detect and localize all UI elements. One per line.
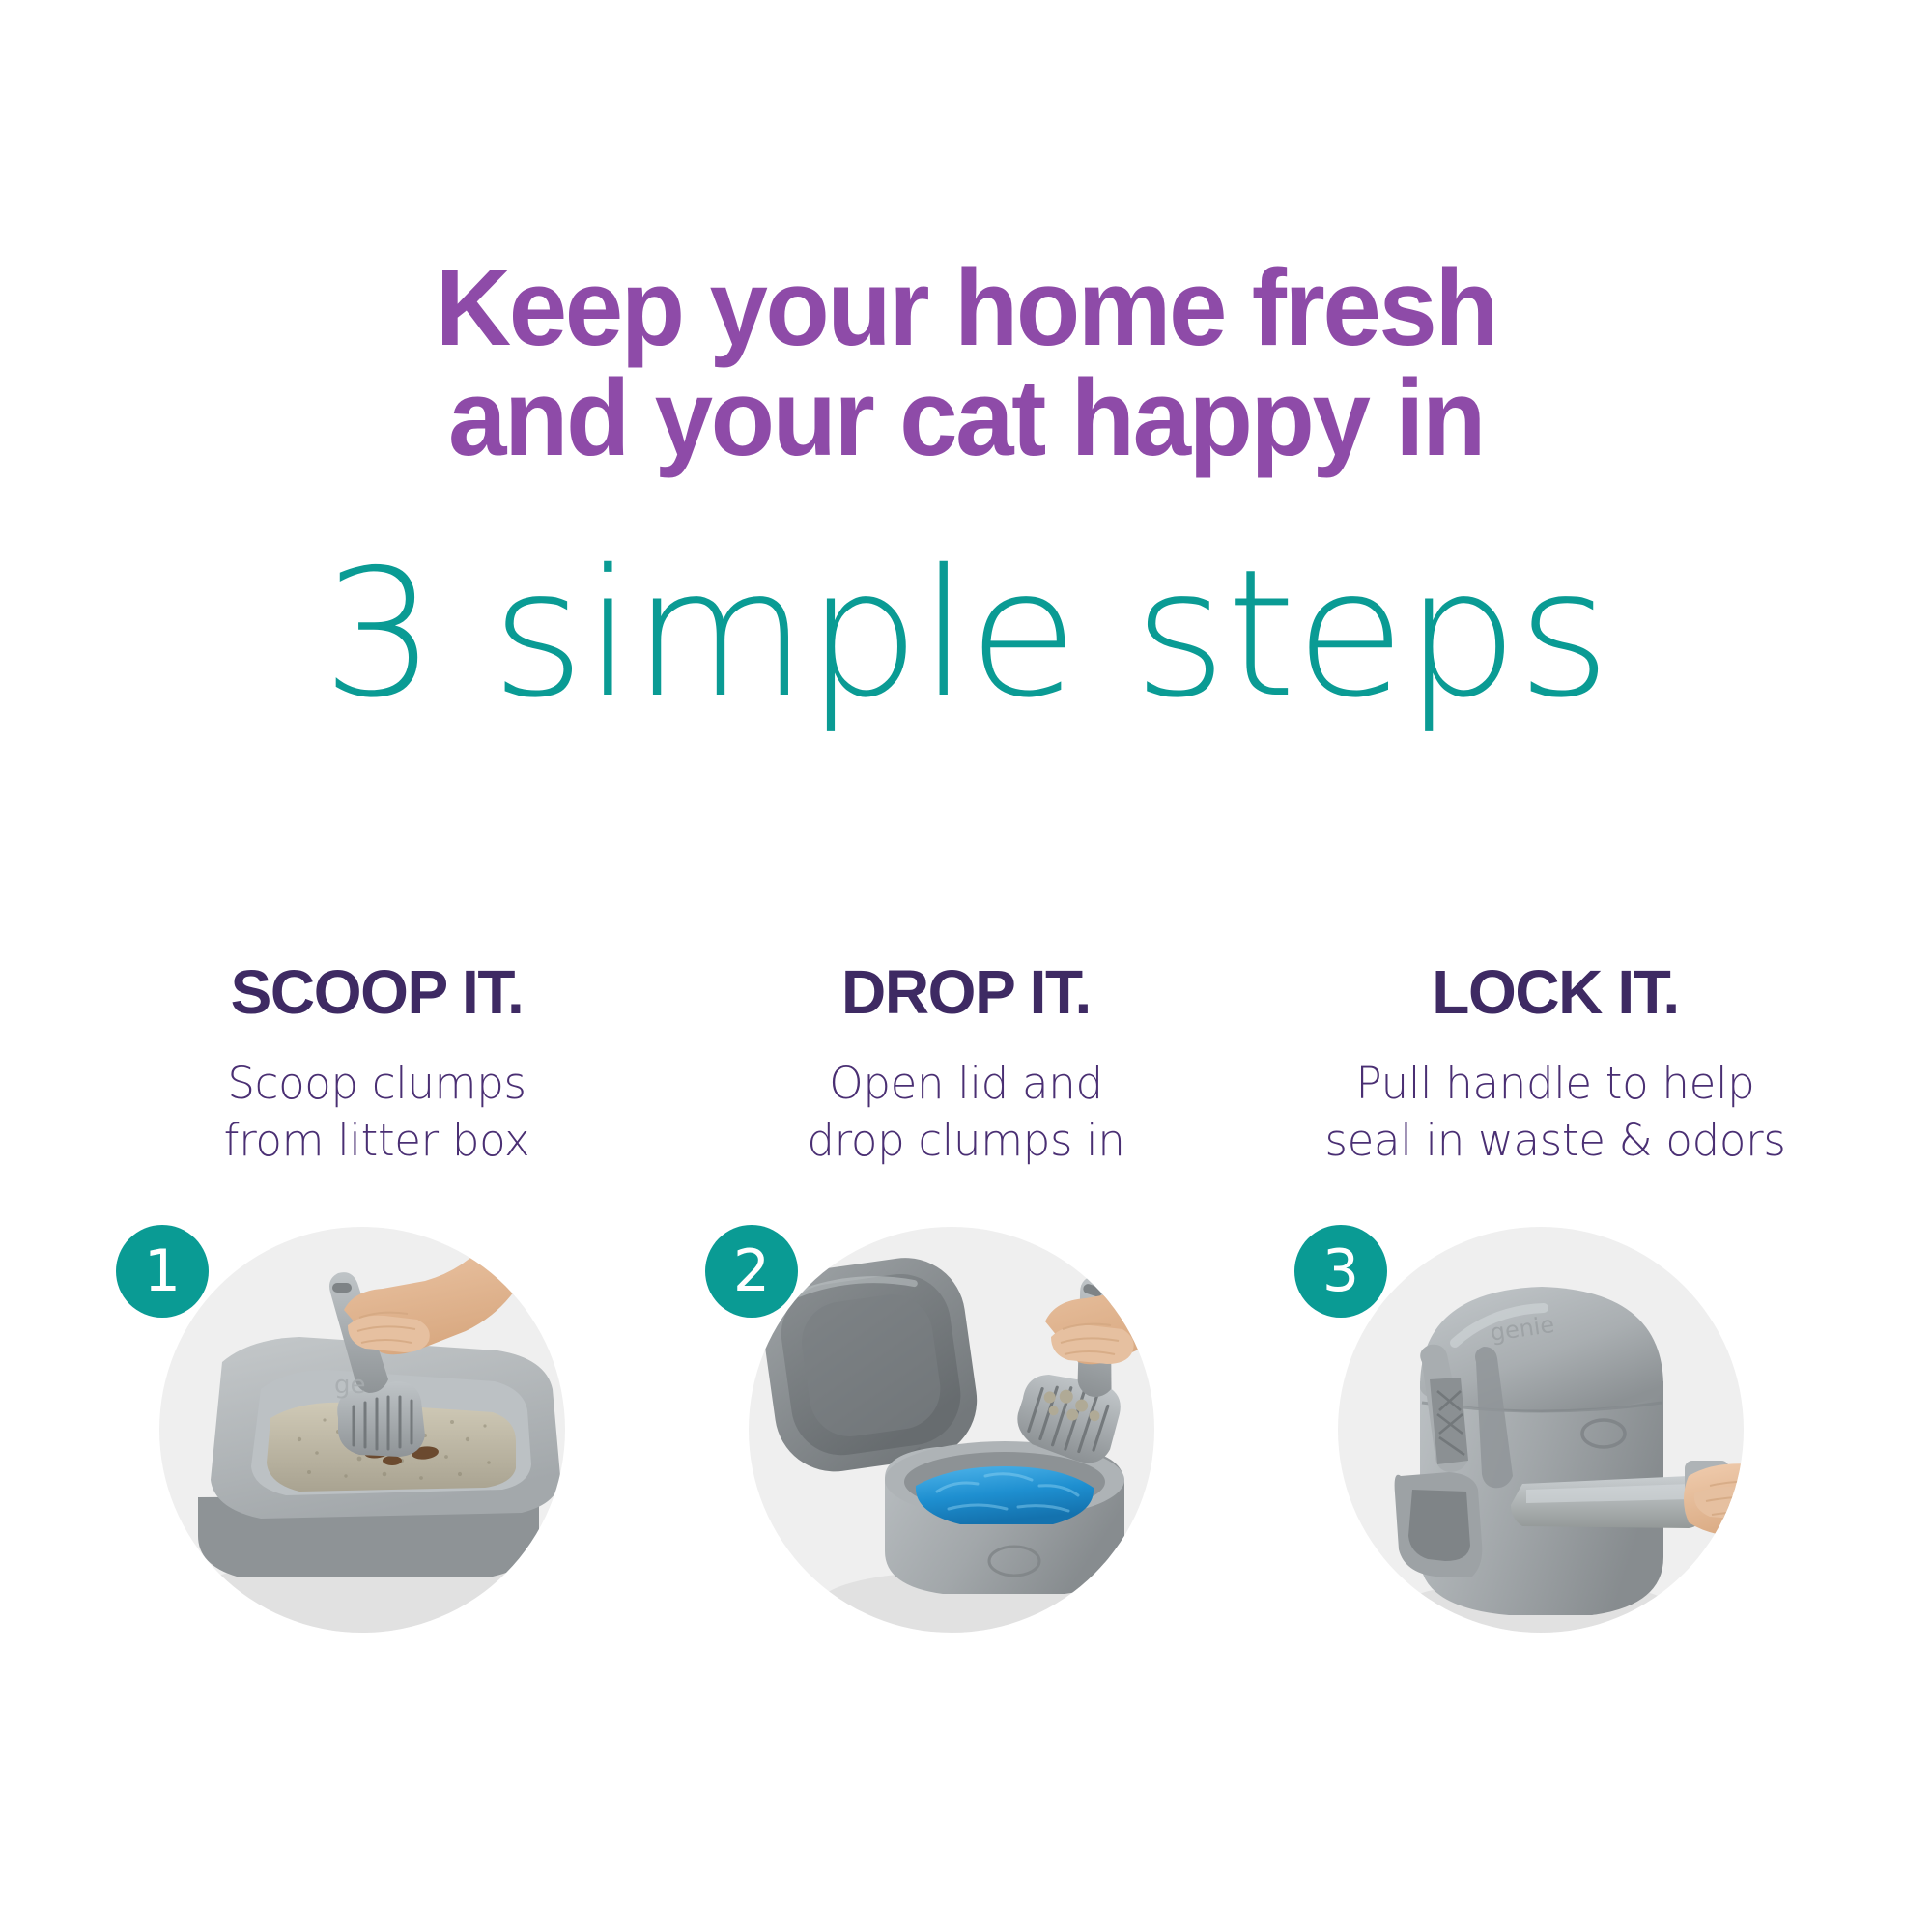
step-3-desc-line-2: seal in waste & odors — [1325, 1113, 1786, 1170]
step-column-2: DROP IT. Open lid and drop clumps in — [676, 961, 1256, 1671]
step-2-desc-line-1: Open lid and — [807, 1056, 1124, 1113]
step-1-number-badge: 1 — [116, 1225, 209, 1318]
step-2-image-tile: 2 — [696, 1217, 1236, 1671]
steps-row: SCOOP IT. Scoop clumps from litter box — [87, 961, 1845, 1671]
step-3-image-tile: genie — [1285, 1217, 1826, 1671]
step-3-number-badge: 3 — [1294, 1225, 1387, 1318]
step-column-1: SCOOP IT. Scoop clumps from litter box — [87, 961, 667, 1671]
step-1-desc-line-1: Scoop clumps — [224, 1056, 530, 1113]
headline-line-2: and your cat happy in — [29, 363, 1903, 473]
subheadline: 3 simple steps — [0, 546, 1932, 722]
step-1-description: Scoop clumps from litter box — [224, 1056, 530, 1169]
step-1-image-tile: ge 1 — [106, 1217, 647, 1671]
step-2-description: Open lid and drop clumps in — [807, 1056, 1124, 1169]
promo-infographic: Keep your home fresh and your cat happy … — [0, 0, 1932, 1932]
step-3-desc-line-1: Pull handle to help — [1325, 1056, 1786, 1113]
step-column-3: LOCK IT. Pull handle to help seal in was… — [1265, 961, 1845, 1671]
step-2-title: DROP IT. — [841, 961, 1091, 1023]
subheadline-block: 3 simple steps — [0, 546, 1932, 722]
step-3-description: Pull handle to help seal in waste & odor… — [1325, 1056, 1786, 1169]
svg-text:ge: ge — [334, 1371, 366, 1400]
headline-line-1: Keep your home fresh — [29, 253, 1903, 363]
step-1-title: SCOOP IT. — [231, 961, 524, 1023]
step-2-number-badge: 2 — [705, 1225, 798, 1318]
page-title: Keep your home fresh and your cat happy … — [29, 253, 1903, 473]
step-2-desc-line-2: drop clumps in — [807, 1113, 1124, 1170]
step-1-desc-line-2: from litter box — [224, 1113, 530, 1170]
headline-block: Keep your home fresh and your cat happy … — [0, 253, 1932, 473]
step-3-title: LOCK IT. — [1432, 961, 1678, 1023]
